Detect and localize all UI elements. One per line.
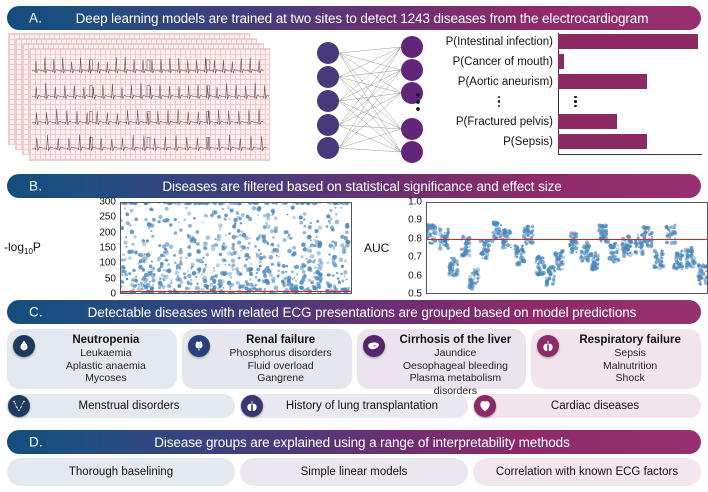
- panel-d-letter: D.: [29, 435, 43, 450]
- lungs-icon: [241, 395, 263, 417]
- disease-group-title: Neutropenia: [41, 333, 171, 347]
- disease-pill-label: Cardiac diseases: [535, 400, 639, 412]
- scatter-points: [121, 203, 351, 293]
- disease-group-item: Fluid overload: [216, 360, 346, 373]
- interpretability-method-label: Correlation with known ECG factors: [496, 466, 678, 478]
- disease-group-item: Aplastic anaemia: [41, 360, 171, 373]
- uterus-icon: [8, 395, 30, 417]
- panel-c-title: Detectable diseases with related ECG pre…: [7, 305, 701, 320]
- disease-group-item: Malnutrition: [565, 360, 695, 373]
- interpretability-method-label: Thorough baselining: [69, 466, 173, 478]
- bar-row: P(Fractured pelvis): [440, 113, 702, 130]
- panel-a-letter: A.: [29, 11, 42, 26]
- axis-tick: 0.5: [408, 289, 422, 300]
- axis-tick: 0.6: [408, 270, 422, 281]
- disease-group-item: Sepsis: [565, 347, 695, 360]
- disease-pill-label: Menstrual disorders: [63, 400, 180, 412]
- axis-tick: 0: [110, 289, 116, 300]
- disease-group-title: Renal failure: [216, 333, 346, 347]
- disease-group-card[interactable]: Cirrhosis of the liverJaundiceOesophagea…: [357, 329, 527, 389]
- disease-group-title: Cirrhosis of the liver: [391, 333, 521, 347]
- ecg-waveform-traces: [30, 49, 269, 161]
- auc-scatter-plot: AUC 0.50.60.70.80.91.0: [360, 202, 708, 294]
- disease-pill-cards: Menstrual disordersHistory of lung trans…: [7, 394, 701, 418]
- disease-pill[interactable]: Menstrual disorders: [7, 394, 235, 418]
- panel-d-title: Disease groups are explained using a ran…: [7, 435, 701, 450]
- bar-fill: [558, 134, 647, 149]
- disease-pill[interactable]: Cardiac diseases: [473, 394, 701, 418]
- panel-b-letter: B.: [29, 179, 42, 194]
- blood-drop-icon: [13, 335, 35, 357]
- auc-plot-area: [426, 202, 708, 294]
- disease-group-item: Jaundice: [391, 347, 521, 360]
- kidneys-icon: [188, 335, 210, 357]
- ecg-sheet-front: [29, 48, 270, 161]
- bar-chart-x-axis: [558, 154, 702, 155]
- bar-label: P(Cancer of mouth): [440, 56, 558, 68]
- scatter-y-ticks: 050100150200250300: [88, 202, 118, 294]
- disease-group-item: Oesophageal bleeding: [391, 360, 521, 373]
- panel-c-letter: C.: [29, 305, 43, 320]
- scatter-plot-area: [120, 202, 352, 294]
- bar-label: P(Fractured pelvis): [440, 116, 558, 128]
- bar-row: P(Cancer of mouth): [440, 53, 702, 70]
- panel-a-header: A. Deep learning models are trained at t…: [7, 6, 701, 30]
- disease-group-card[interactable]: Renal failurePhosphorus disordersFluid o…: [182, 329, 352, 389]
- axis-tick: 200: [99, 227, 116, 238]
- axis-tick: 250: [99, 212, 116, 223]
- bar-fill: [558, 54, 564, 69]
- panel-b-header: B. Diseases are filtered based on statis…: [7, 174, 701, 198]
- nn-nodes: [317, 36, 423, 163]
- bar-row: P(Aortic aneurism): [440, 73, 702, 90]
- disease-group-card[interactable]: NeutropeniaLeukaemiaAplastic anaemiaMyco…: [7, 329, 177, 389]
- disease-group-item: Gangrene: [216, 372, 346, 385]
- nn-edges: [339, 47, 401, 152]
- axis-tick: 150: [99, 243, 116, 254]
- axis-tick: 300: [99, 197, 116, 208]
- vertical-dots-icon: [574, 96, 577, 108]
- bar-fill: [558, 34, 698, 49]
- axis-tick: 0.7: [408, 252, 422, 263]
- nn-ellipsis-dots: [416, 93, 420, 111]
- interpretability-method-label: Simple linear models: [301, 466, 408, 478]
- disease-pill-label: History of lung transplantation: [270, 400, 438, 412]
- figure-root: A. Deep learning models are trained at t…: [0, 0, 708, 492]
- bar-fill: [558, 114, 617, 129]
- vertical-dots-icon: [498, 96, 501, 108]
- bar-label: P(Intestinal infection): [440, 36, 558, 48]
- auc-y-axis-label: AUC: [364, 241, 389, 255]
- heart-icon: [474, 395, 496, 417]
- neural-network-diagram: [300, 33, 440, 166]
- auc-y-ticks: 0.50.60.70.80.91.0: [394, 202, 424, 294]
- liver-icon: [363, 335, 385, 357]
- panel-a-title: Deep learning models are trained at two …: [7, 11, 701, 26]
- disease-group-cards: NeutropeniaLeukaemiaAplastic anaemiaMyco…: [7, 329, 701, 389]
- output-probability-bar-chart: P(Intestinal infection) P(Cancer of mout…: [440, 33, 702, 166]
- bar-fill: [558, 74, 647, 89]
- interpretability-method-pill[interactable]: Correlation with known ECG factors: [473, 458, 701, 486]
- disease-group-item: Leukaemia: [41, 347, 171, 360]
- auc-threshold-line: [427, 239, 707, 240]
- interpretability-method-pills: Thorough baseliningSimple linear modelsC…: [7, 458, 701, 486]
- bar-row: P(Sepsis): [440, 133, 702, 150]
- disease-group-title: Respiratory failure: [565, 333, 695, 347]
- disease-group-card[interactable]: Respiratory failureSepsisMalnutritionSho…: [531, 329, 701, 389]
- panel-b-title: Diseases are filtered based on statistic…: [7, 179, 701, 194]
- axis-tick: 1.0: [408, 197, 422, 208]
- bar-label: P(Sepsis): [440, 136, 558, 148]
- significance-scatter-plot: -log10P 050100150200250300: [0, 202, 352, 294]
- bar-label: P(Aortic aneurism): [440, 76, 558, 88]
- axis-tick: 0.9: [408, 215, 422, 226]
- disease-group-item: Shock: [565, 372, 695, 385]
- auc-points: [427, 203, 707, 293]
- disease-pill[interactable]: History of lung transplantation: [240, 394, 468, 418]
- scatter-y-axis-label: -log10P: [4, 240, 41, 256]
- ecg-printout-stack: [8, 33, 270, 163]
- bar-row: P(Intestinal infection): [440, 33, 702, 50]
- panel-c-header: C. Detectable diseases with related ECG …: [7, 300, 701, 324]
- disease-group-item: Mycoses: [41, 372, 171, 385]
- bar-chart-ellipsis-row: [440, 93, 702, 110]
- axis-tick: 100: [99, 258, 116, 269]
- axis-tick: 0.8: [408, 233, 422, 244]
- panel-d-header: D. Disease groups are explained using a …: [7, 430, 701, 454]
- axis-tick: 50: [105, 273, 116, 284]
- lungs-icon: [537, 335, 559, 357]
- interpretability-method-pill[interactable]: Simple linear models: [240, 458, 468, 486]
- disease-group-item: Phosphorus disorders: [216, 347, 346, 360]
- significance-threshold-line: [121, 291, 351, 292]
- interpretability-method-pill[interactable]: Thorough baselining: [7, 458, 235, 486]
